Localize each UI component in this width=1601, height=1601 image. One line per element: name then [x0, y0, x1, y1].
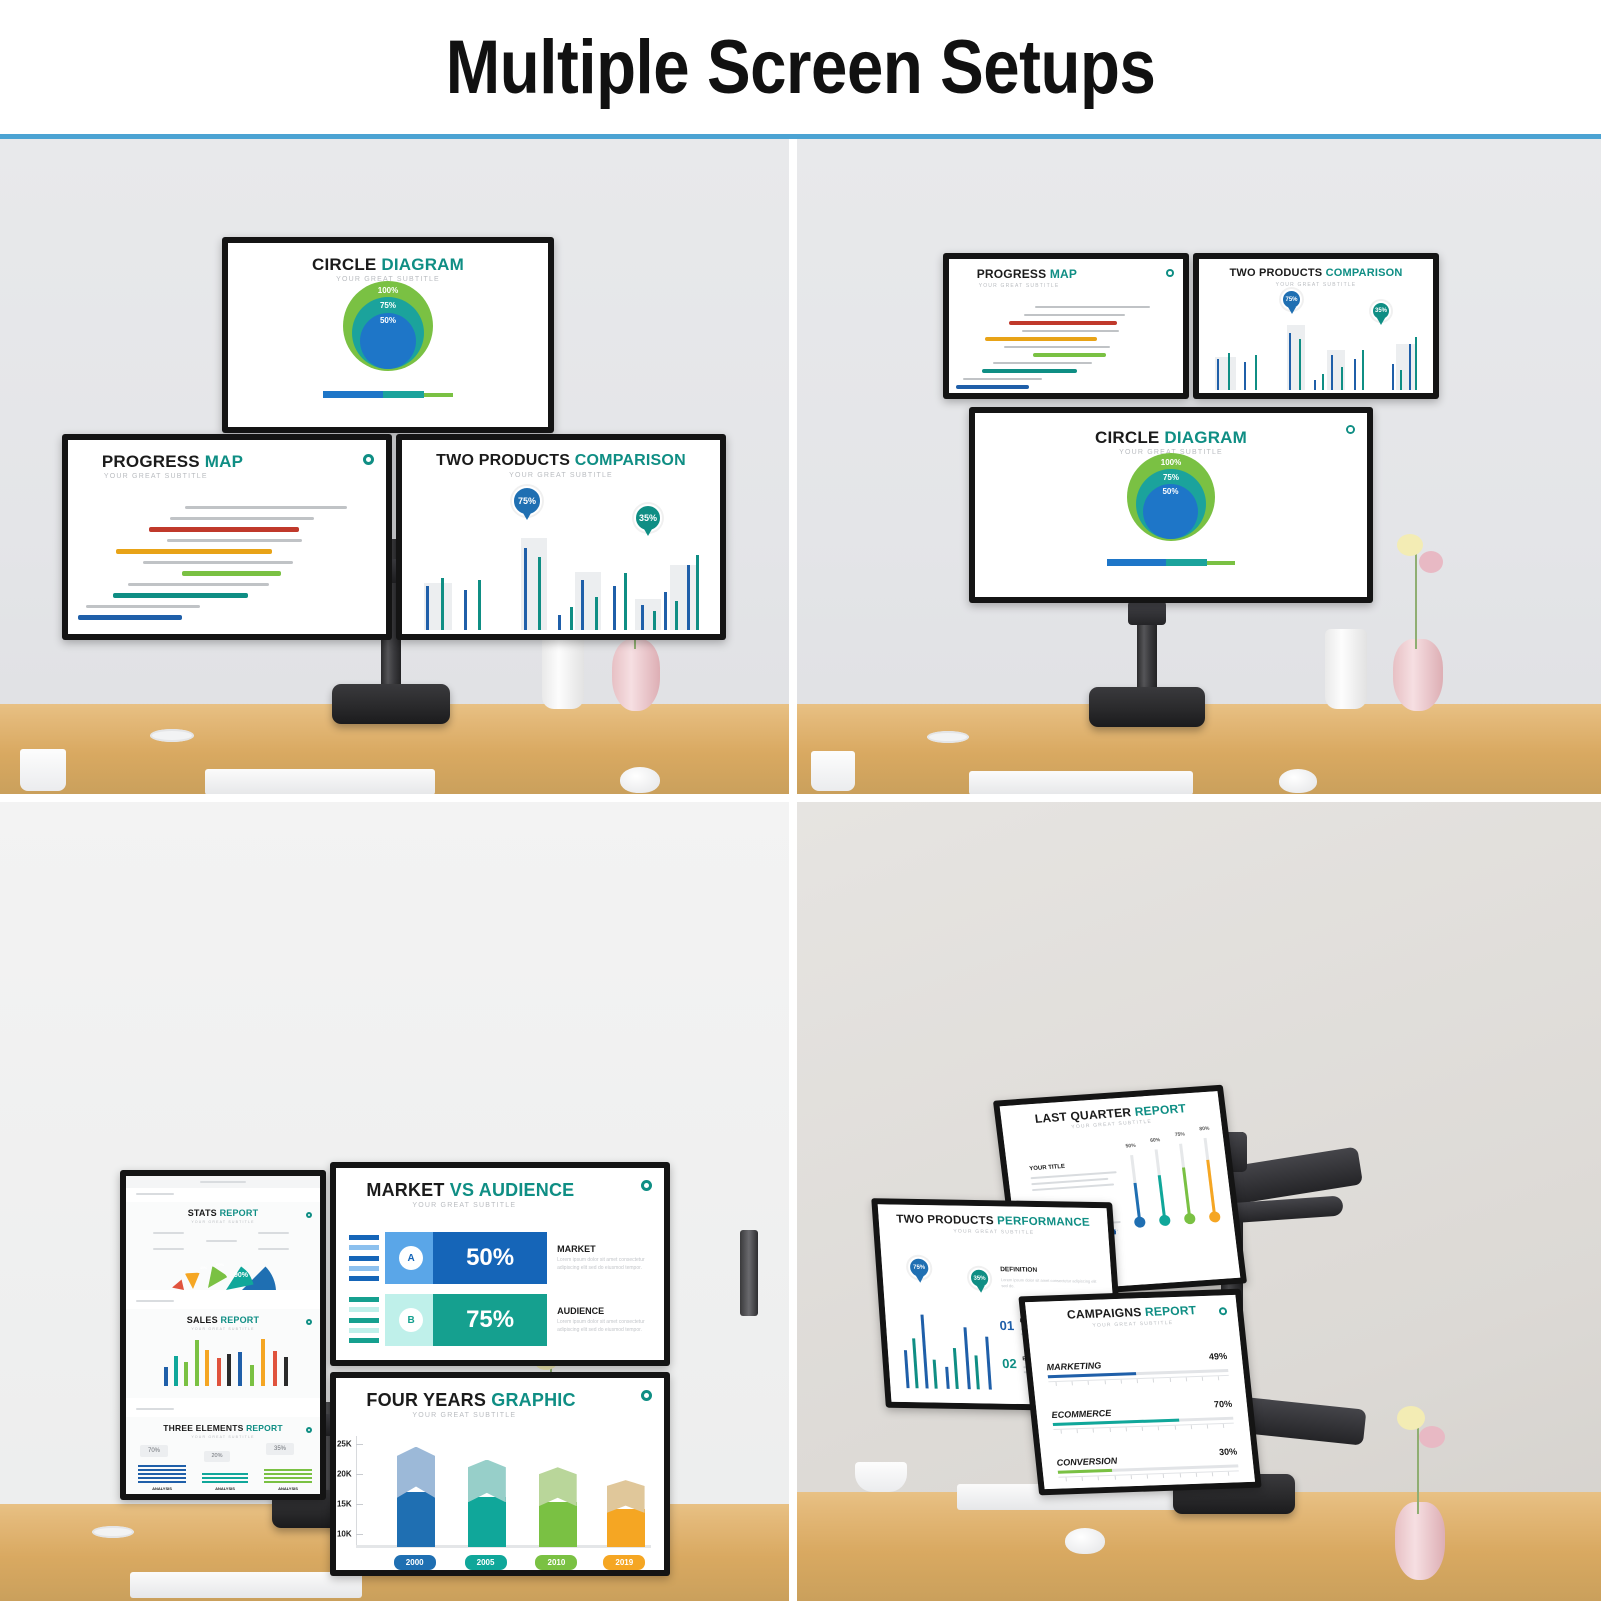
- tpp-bar: [952, 1348, 958, 1389]
- slide-badge-icon: [1346, 425, 1355, 434]
- three-elements-caption: ANALYSIS: [202, 1486, 248, 1491]
- progress-map-chart: [956, 303, 1176, 393]
- four-years-chart: 25K 20K 15K 10K: [356, 1436, 651, 1562]
- bar-series-b: [441, 578, 444, 631]
- bar-series-b: [1255, 355, 1257, 391]
- slide-subtitle: YOUR GREAT SUBTITLE: [126, 1327, 320, 1331]
- bar-series-b: [538, 557, 541, 631]
- monitor-portrait-stacked-reports: STATS REPORT YOUR GREAT SUBTITLE: [120, 1170, 326, 1500]
- campaign-value: 70%: [1213, 1399, 1232, 1410]
- bar-series-a: [426, 586, 429, 630]
- desk-grommet: [927, 731, 969, 743]
- circle-ring-50: 50%: [1143, 484, 1198, 539]
- section-label: [136, 1193, 175, 1195]
- mva-label: MARKET: [557, 1244, 651, 1254]
- slide-subtitle: YOUR GREAT SUBTITLE: [1211, 282, 1422, 288]
- slide-campaigns-report: CAMPAIGNS REPORT YOUR GREAT SUBTITLE MAR…: [1025, 1295, 1255, 1489]
- monitor-right-two-products-comparison: TWO PRODUCTS COMPARISON YOUR GREAT SUBTI…: [396, 434, 726, 640]
- bar-series-b: [696, 555, 699, 631]
- tpp-bar: [985, 1336, 992, 1389]
- sales-bar: [250, 1365, 254, 1386]
- gantt-bar: [982, 369, 1077, 373]
- three-elements-chip: 35%: [266, 1443, 294, 1455]
- slide-body: THREE ELEMENTS REPORT YOUR GREAT SUBTITL…: [126, 1417, 320, 1494]
- campaign-row-marketing: MARKETING 49%: [1046, 1351, 1230, 1388]
- slide-circle-diagram: CIRCLE DIAGRAM YOUR GREAT SUBTITLE 100% …: [228, 243, 548, 427]
- bar-series-b: [1415, 337, 1417, 390]
- gantt-bar: [116, 549, 271, 554]
- tpp-bar: [912, 1338, 918, 1388]
- mouse: [620, 767, 660, 793]
- pink-vase: [612, 639, 660, 711]
- gantt-bar: [985, 337, 1097, 341]
- lqr-gauges: 50% 60%: [1113, 1137, 1231, 1253]
- bar-series-a: [464, 590, 467, 630]
- screen: CAMPAIGNS REPORT YOUR GREAT SUBTITLE MAR…: [1025, 1295, 1255, 1489]
- bar-series-a: [524, 548, 527, 630]
- screen: CIRCLE DIAGRAM YOUR GREAT SUBTITLE 100% …: [975, 413, 1367, 597]
- screen: PROGRESS MAP YOUR GREAT SUBTITLE: [949, 259, 1183, 393]
- flower-bloom: [1397, 534, 1423, 556]
- gantt-bar: [182, 571, 281, 576]
- callout-bubble-75: 75%: [1281, 289, 1302, 310]
- slide-body: SALES REPORT YOUR GREAT SUBTITLE: [126, 1309, 320, 1398]
- year-pill-2000: 2000: [394, 1555, 436, 1570]
- gantt-bar: [170, 517, 313, 520]
- mouse: [1279, 769, 1317, 793]
- gantt-bar: [167, 539, 302, 542]
- fan-value-90: 90%: [234, 1272, 248, 1279]
- y-tick-label: 25K: [337, 1439, 352, 1448]
- lqr-heading: YOUR TITLE: [1029, 1160, 1126, 1173]
- panel-quad-monitor-stacked-setup: STATS REPORT YOUR GREAT SUBTITLE: [0, 802, 789, 1601]
- circle-legend-bar: [1107, 559, 1235, 566]
- sales-bar: [284, 1357, 288, 1386]
- tpp-bar-chart: [895, 1302, 1006, 1390]
- desk-grommet: [150, 729, 194, 742]
- pole-clamp: [1128, 601, 1166, 625]
- bar-series-b: [478, 580, 481, 630]
- slide-title: CIRCLE DIAGRAM: [995, 429, 1348, 447]
- gantt-bar: [1022, 330, 1119, 332]
- white-vase: [542, 631, 584, 709]
- slide-title: MARKET VS AUDIENCE: [352, 1181, 647, 1200]
- three-elements-chip: 70%: [140, 1445, 168, 1457]
- mva-value: 50%: [433, 1232, 547, 1284]
- comparison-bar-chart: [418, 525, 704, 630]
- screen: TWO PRODUCTS COMPARISON YOUR GREAT SUBTI…: [1199, 259, 1433, 393]
- stats-fan-chart: 90% 60% 40%: [172, 1256, 278, 1290]
- four-years-bar-2005: [468, 1461, 506, 1547]
- gantt-bar: [78, 615, 183, 620]
- section-label: [136, 1408, 175, 1410]
- stat-label: [153, 1248, 184, 1250]
- gantt-bar: [143, 561, 292, 564]
- slide-two-products-comparison: TWO PRODUCTS COMPARISON YOUR GREAT SUBTI…: [1199, 259, 1433, 393]
- bar-series-a: [687, 565, 690, 630]
- pink-vase: [1393, 639, 1443, 711]
- bar-stack: [264, 1469, 312, 1483]
- gantt-bar: [128, 583, 269, 586]
- bar-series-a: [641, 605, 644, 630]
- campaign-label: MARKETING: [1046, 1360, 1102, 1372]
- slide-title: CIRCLE DIAGRAM: [244, 256, 532, 274]
- four-years-bar-2010: [539, 1469, 577, 1547]
- mouse: [1065, 1528, 1105, 1554]
- bar-series-a: [1392, 364, 1394, 391]
- slide-subtitle: YOUR GREAT SUBTITLE: [418, 472, 704, 479]
- gantt-bar: [113, 593, 248, 598]
- ghost-column: [670, 565, 696, 630]
- gantt-bar: [86, 605, 200, 608]
- slide-subtitle: YOUR GREAT SUBTITLE: [84, 473, 370, 480]
- three-elements-column: ANALYSIS: [138, 1465, 186, 1491]
- bar-series-b: [1400, 370, 1402, 391]
- three-elements-column: ANALYSIS: [202, 1473, 248, 1491]
- mva-label: AUDIENCE: [557, 1306, 651, 1316]
- slide-title: STATS REPORT: [126, 1202, 320, 1218]
- gantt-bar: [993, 362, 1092, 364]
- mva-band-audience: 75% B: [385, 1294, 547, 1346]
- slide-badge-icon: [306, 1427, 312, 1433]
- sales-bar: [174, 1356, 178, 1386]
- gantt-bar: [1009, 321, 1117, 325]
- slide-title: SALES REPORT: [126, 1309, 320, 1325]
- panel-triple-monitor-pyramid-setup: CIRCLE DIAGRAM YOUR GREAT SUBTITLE 100% …: [0, 139, 789, 794]
- mva-band-market: 50% A: [385, 1232, 547, 1284]
- legend-seg-blue: [323, 391, 383, 398]
- bar-stack: [202, 1473, 248, 1483]
- title-bar: Multiple Screen Setups: [0, 0, 1601, 134]
- monitor-four-years-graphic: FOUR YEARS GRAPHIC YOUR GREAT SUBTITLE 2…: [330, 1372, 670, 1576]
- monitor-top-circle-diagram: CIRCLE DIAGRAM YOUR GREAT SUBTITLE 100% …: [222, 237, 554, 433]
- flower-bloom: [1397, 1406, 1425, 1430]
- bar-series-a: [581, 580, 584, 630]
- page-title: Multiple Screen Setups: [446, 24, 1156, 111]
- y-tick: [356, 1504, 363, 1505]
- bar-series-b: [1362, 350, 1364, 390]
- y-tick: [356, 1534, 363, 1535]
- year-pill-2019: 2019: [603, 1555, 645, 1570]
- campaign-label: ECOMMERCE: [1051, 1408, 1112, 1420]
- slide-circle-diagram: CIRCLE DIAGRAM YOUR GREAT SUBTITLE 100% …: [975, 413, 1367, 597]
- slide-badge-icon: [306, 1319, 312, 1325]
- bar-series-b: [1299, 339, 1301, 391]
- mva-badge-b: B: [399, 1308, 423, 1332]
- stat-label: [258, 1248, 289, 1250]
- slide-subtitle: YOUR GREAT SUBTITLE: [352, 1202, 647, 1209]
- section-label: [136, 1300, 175, 1302]
- mva-tick-stack: [349, 1297, 379, 1343]
- panel-triple-monitor-inverted-pyramid-setup: PROGRESS MAP YOUR GREAT SUBTITLE: [797, 139, 1601, 794]
- slide-title: TWO PRODUCTS PERFORMANCE: [890, 1214, 1097, 1230]
- campaign-fill: [1057, 1469, 1112, 1474]
- campaign-value: 49%: [1208, 1351, 1227, 1362]
- sales-bar: [164, 1367, 168, 1386]
- slide-body: STATS REPORT YOUR GREAT SUBTITLE: [126, 1202, 320, 1290]
- sales-bar: [195, 1340, 199, 1386]
- mva-info-audience: AUDIENCE Lorem ipsum dolor sit amet cons…: [557, 1306, 651, 1334]
- circle-legend-bar: [323, 391, 453, 398]
- slide-two-products-comparison: TWO PRODUCTS COMPARISON YOUR GREAT SUBTI…: [402, 440, 720, 634]
- gantt-bar: [1024, 314, 1125, 316]
- product-feature-image: Multiple Screen Setups CIRCLE: [0, 0, 1601, 1601]
- white-vase: [1325, 629, 1367, 709]
- bar-series-b: [595, 597, 598, 631]
- bar-series-a: [558, 615, 561, 630]
- monitor-lower-circle-diagram: CIRCLE DIAGRAM YOUR GREAT SUBTITLE 100% …: [969, 407, 1373, 603]
- y-tick: [356, 1474, 363, 1475]
- y-tick-label: 15K: [337, 1500, 352, 1509]
- campaign-label: CONVERSION: [1056, 1456, 1118, 1468]
- fan-value-40: 40%: [200, 1266, 207, 1270]
- slide-title: PROGRESS MAP: [961, 268, 1172, 281]
- desk-grommet: [92, 1526, 134, 1538]
- slide-stats-report: STATS REPORT YOUR GREAT SUBTITLE: [126, 1188, 320, 1290]
- slide-market-vs-audience: MARKET VS AUDIENCE YOUR GREAT SUBTITLE: [336, 1168, 664, 1360]
- bar-series-a: [1409, 344, 1411, 390]
- slide-badge-icon: [363, 454, 374, 465]
- tpp-definition-heading: DEFINITION: [1000, 1266, 1101, 1275]
- tpp-bar: [974, 1355, 979, 1389]
- monitor-left-progress-map: PROGRESS MAP YOUR GREAT SUBTITLE: [62, 434, 392, 640]
- tpp-bar: [921, 1315, 929, 1389]
- grid-gutter-horizontal: [0, 794, 1601, 802]
- monitor-upper-left-progress-map: PROGRESS MAP YOUR GREAT SUBTITLE: [943, 253, 1189, 399]
- y-tick: [356, 1444, 363, 1445]
- year-pill-2010: 2010: [535, 1555, 577, 1570]
- campaign-row-conversion: CONVERSION 30%: [1056, 1447, 1240, 1484]
- slide-three-elements-report: THREE ELEMENTS REPORT YOUR GREAT SUBTITL…: [126, 1404, 320, 1494]
- slide-badge-icon: [306, 1212, 312, 1218]
- bar-series-b: [675, 601, 678, 630]
- tpp-bar: [964, 1327, 971, 1389]
- tpp-bar: [904, 1350, 910, 1388]
- sales-bar: [238, 1352, 242, 1386]
- sales-bar: [184, 1362, 188, 1386]
- bar-series-a: [1244, 362, 1246, 390]
- candle-cup: [20, 749, 66, 791]
- door-handle: [740, 1230, 758, 1316]
- tpp-bar: [945, 1366, 950, 1388]
- pink-vase: [1395, 1502, 1445, 1580]
- mva-info-market: MARKET Lorem ipsum dolor sit amet consec…: [557, 1244, 651, 1272]
- gantt-bar: [1033, 353, 1106, 357]
- stat-label: [206, 1240, 237, 1242]
- slide-title: TWO PRODUCTS COMPARISON: [1211, 268, 1422, 280]
- progress-map-chart: [78, 502, 377, 622]
- slide-badge-icon: [641, 1390, 652, 1401]
- grid-gutter-vertical: [789, 139, 797, 1601]
- stat-label: [258, 1232, 289, 1234]
- lqr-text-block-1: YOUR TITLE: [1029, 1160, 1128, 1192]
- callout-bubble-35: 35%: [968, 1268, 991, 1289]
- bar-series-b: [570, 607, 573, 630]
- circle-ring-50: 50%: [360, 313, 416, 369]
- mva-badge-a: A: [399, 1246, 423, 1270]
- legend-seg-teal: [1166, 559, 1207, 566]
- gantt-bar: [1004, 346, 1110, 348]
- callout-bubble-75: 75%: [512, 486, 542, 516]
- three-elements-column: ANALYSIS: [264, 1469, 312, 1491]
- flower-stem: [1415, 549, 1417, 649]
- monitor-campaigns-report: CAMPAIGNS REPORT YOUR GREAT SUBTITLE MAR…: [1018, 1289, 1261, 1496]
- slide-title: TWO PRODUCTS COMPARISON: [418, 453, 704, 470]
- mva-value: 75%: [433, 1294, 547, 1346]
- slide-badge-icon: [641, 1180, 652, 1191]
- slide-badge-icon: [1166, 269, 1174, 277]
- y-tick-label: 20K: [337, 1469, 352, 1478]
- sales-bar: [205, 1350, 209, 1386]
- gantt-bar: [185, 506, 346, 509]
- three-elements-caption: ANALYSIS: [264, 1486, 312, 1491]
- bar-series-b: [1228, 353, 1230, 390]
- screen: STATS REPORT YOUR GREAT SUBTITLE: [126, 1176, 320, 1494]
- candle-cup: [811, 751, 855, 791]
- circle-diagram-chart: 100% 75% 50%: [1127, 453, 1215, 541]
- screen: FOUR YEARS GRAPHIC YOUR GREAT SUBTITLE 2…: [336, 1378, 664, 1570]
- legend-seg-green: [424, 393, 453, 397]
- callout-bubble-75: 75%: [907, 1257, 931, 1279]
- bar-series-b: [1322, 374, 1324, 390]
- slide-title: PROGRESS MAP: [84, 453, 370, 471]
- flower-bloom: [1419, 1426, 1445, 1448]
- three-elements-caption: ANALYSIS: [138, 1486, 186, 1491]
- slide-subtitle: YOUR GREAT SUBTITLE: [352, 1412, 647, 1419]
- fan-value-60: 60%: [216, 1262, 224, 1267]
- campaign-value: 30%: [1218, 1447, 1237, 1458]
- ghost-column: [635, 599, 661, 631]
- keyboard: [130, 1572, 362, 1598]
- bar-series-a: [664, 592, 667, 630]
- bar-stack: [138, 1465, 186, 1483]
- legend-seg-blue: [1107, 559, 1166, 566]
- bar-series-b: [653, 611, 656, 630]
- gantt-bar: [1035, 306, 1149, 308]
- mva-tick-stack: [349, 1235, 379, 1281]
- bar-series-a: [1331, 355, 1333, 391]
- bar-series-a: [1289, 333, 1291, 391]
- gantt-bar: [149, 527, 298, 532]
- slide-title: THREE ELEMENTS REPORT: [126, 1417, 320, 1433]
- slide-four-years-graphic: FOUR YEARS GRAPHIC YOUR GREAT SUBTITLE 2…: [336, 1378, 664, 1570]
- gantt-bar: [956, 385, 1029, 389]
- tpp-definition-body: Lorem ipsum dolor sit amet consectetur a…: [1001, 1277, 1103, 1292]
- tpp-definition: DEFINITION Lorem ipsum dolor sit amet co…: [1000, 1266, 1102, 1291]
- coffee-cup: [855, 1462, 907, 1492]
- slide-subtitle: YOUR GREAT SUBTITLE: [891, 1228, 1097, 1238]
- chrome-dots: [200, 1181, 247, 1183]
- bar-series-b: [1341, 367, 1343, 391]
- mva-body: Lorem ipsum dolor sit amet consectetur a…: [557, 1257, 651, 1272]
- campaign-row-ecommerce: ECOMMERCE 70%: [1051, 1399, 1235, 1436]
- campaign-fill: [1047, 1372, 1136, 1378]
- keyboard: [969, 771, 1193, 794]
- panel-quad-monitor-gas-spring-arm-setup: LAST QUARTER REPORT YOUR GREAT SUBTITLE …: [797, 802, 1601, 1601]
- four-years-bar-2019: [607, 1481, 645, 1547]
- screen: TWO PRODUCTS COMPARISON YOUR GREAT SUBTI…: [402, 440, 720, 634]
- bar-series-a: [1354, 359, 1356, 390]
- legend-seg-green: [1207, 561, 1235, 565]
- stand-base: [1089, 687, 1205, 727]
- three-elements-chip: 20%: [204, 1451, 230, 1462]
- flower-bloom: [1419, 551, 1443, 573]
- y-axis: [356, 1436, 357, 1547]
- mva-row-market: 50% A MARKET Lorem ipsum dolor sit amet …: [349, 1230, 651, 1286]
- slide-subtitle: YOUR GREAT SUBTITLE: [961, 283, 1172, 289]
- four-years-bar-2000: [397, 1449, 435, 1547]
- bar-series-b: [624, 573, 627, 630]
- sales-bar: [261, 1339, 265, 1386]
- year-pill-2005: 2005: [465, 1555, 507, 1570]
- keyboard: [205, 769, 435, 794]
- slide-progress-map: PROGRESS MAP YOUR GREAT SUBTITLE: [68, 440, 386, 634]
- bar-series-a: [1314, 380, 1316, 390]
- ghost-column: [1396, 344, 1415, 390]
- mva-body: Lorem ipsum dolor sit amet consectetur a…: [557, 1319, 651, 1334]
- stat-label: [153, 1232, 184, 1234]
- slide-subtitle: YOUR GREAT SUBTITLE: [126, 1435, 320, 1439]
- sales-bar-chart: [161, 1338, 305, 1386]
- tpp-bar: [932, 1359, 937, 1388]
- monitor-market-vs-audience: MARKET VS AUDIENCE YOUR GREAT SUBTITLE: [330, 1162, 670, 1366]
- y-tick-label: 10K: [337, 1530, 352, 1539]
- sales-bar: [273, 1351, 277, 1386]
- setup-grid: CIRCLE DIAGRAM YOUR GREAT SUBTITLE 100% …: [0, 139, 1601, 1601]
- sales-bar: [227, 1354, 231, 1386]
- bar-series-a: [1217, 359, 1219, 390]
- legend-seg-teal: [383, 391, 425, 398]
- slide-progress-map: PROGRESS MAP YOUR GREAT SUBTITLE: [949, 259, 1183, 393]
- window-chrome: [126, 1176, 320, 1188]
- gantt-bar: [963, 378, 1042, 380]
- bar-series-a: [613, 586, 616, 630]
- slide-title: FOUR YEARS GRAPHIC: [352, 1391, 647, 1410]
- mva-row-audience: 75% B AUDIENCE Lorem ipsum dolor sit ame…: [349, 1292, 651, 1348]
- comparison-bar-chart: [1211, 316, 1422, 390]
- slide-sales-report: SALES REPORT YOUR GREAT SUBTITLE: [126, 1296, 320, 1398]
- sales-bar: [217, 1358, 221, 1386]
- screen: CIRCLE DIAGRAM YOUR GREAT SUBTITLE 100% …: [228, 243, 548, 427]
- slide-subtitle: YOUR GREAT SUBTITLE: [126, 1220, 320, 1224]
- screen: MARKET VS AUDIENCE YOUR GREAT SUBTITLE: [336, 1168, 664, 1360]
- screen: PROGRESS MAP YOUR GREAT SUBTITLE: [68, 440, 386, 634]
- stand-base: [332, 684, 450, 724]
- monitor-upper-right-two-products-comparison: TWO PRODUCTS COMPARISON YOUR GREAT SUBTI…: [1193, 253, 1439, 399]
- circle-diagram-chart: 100% 75% 50%: [343, 281, 433, 371]
